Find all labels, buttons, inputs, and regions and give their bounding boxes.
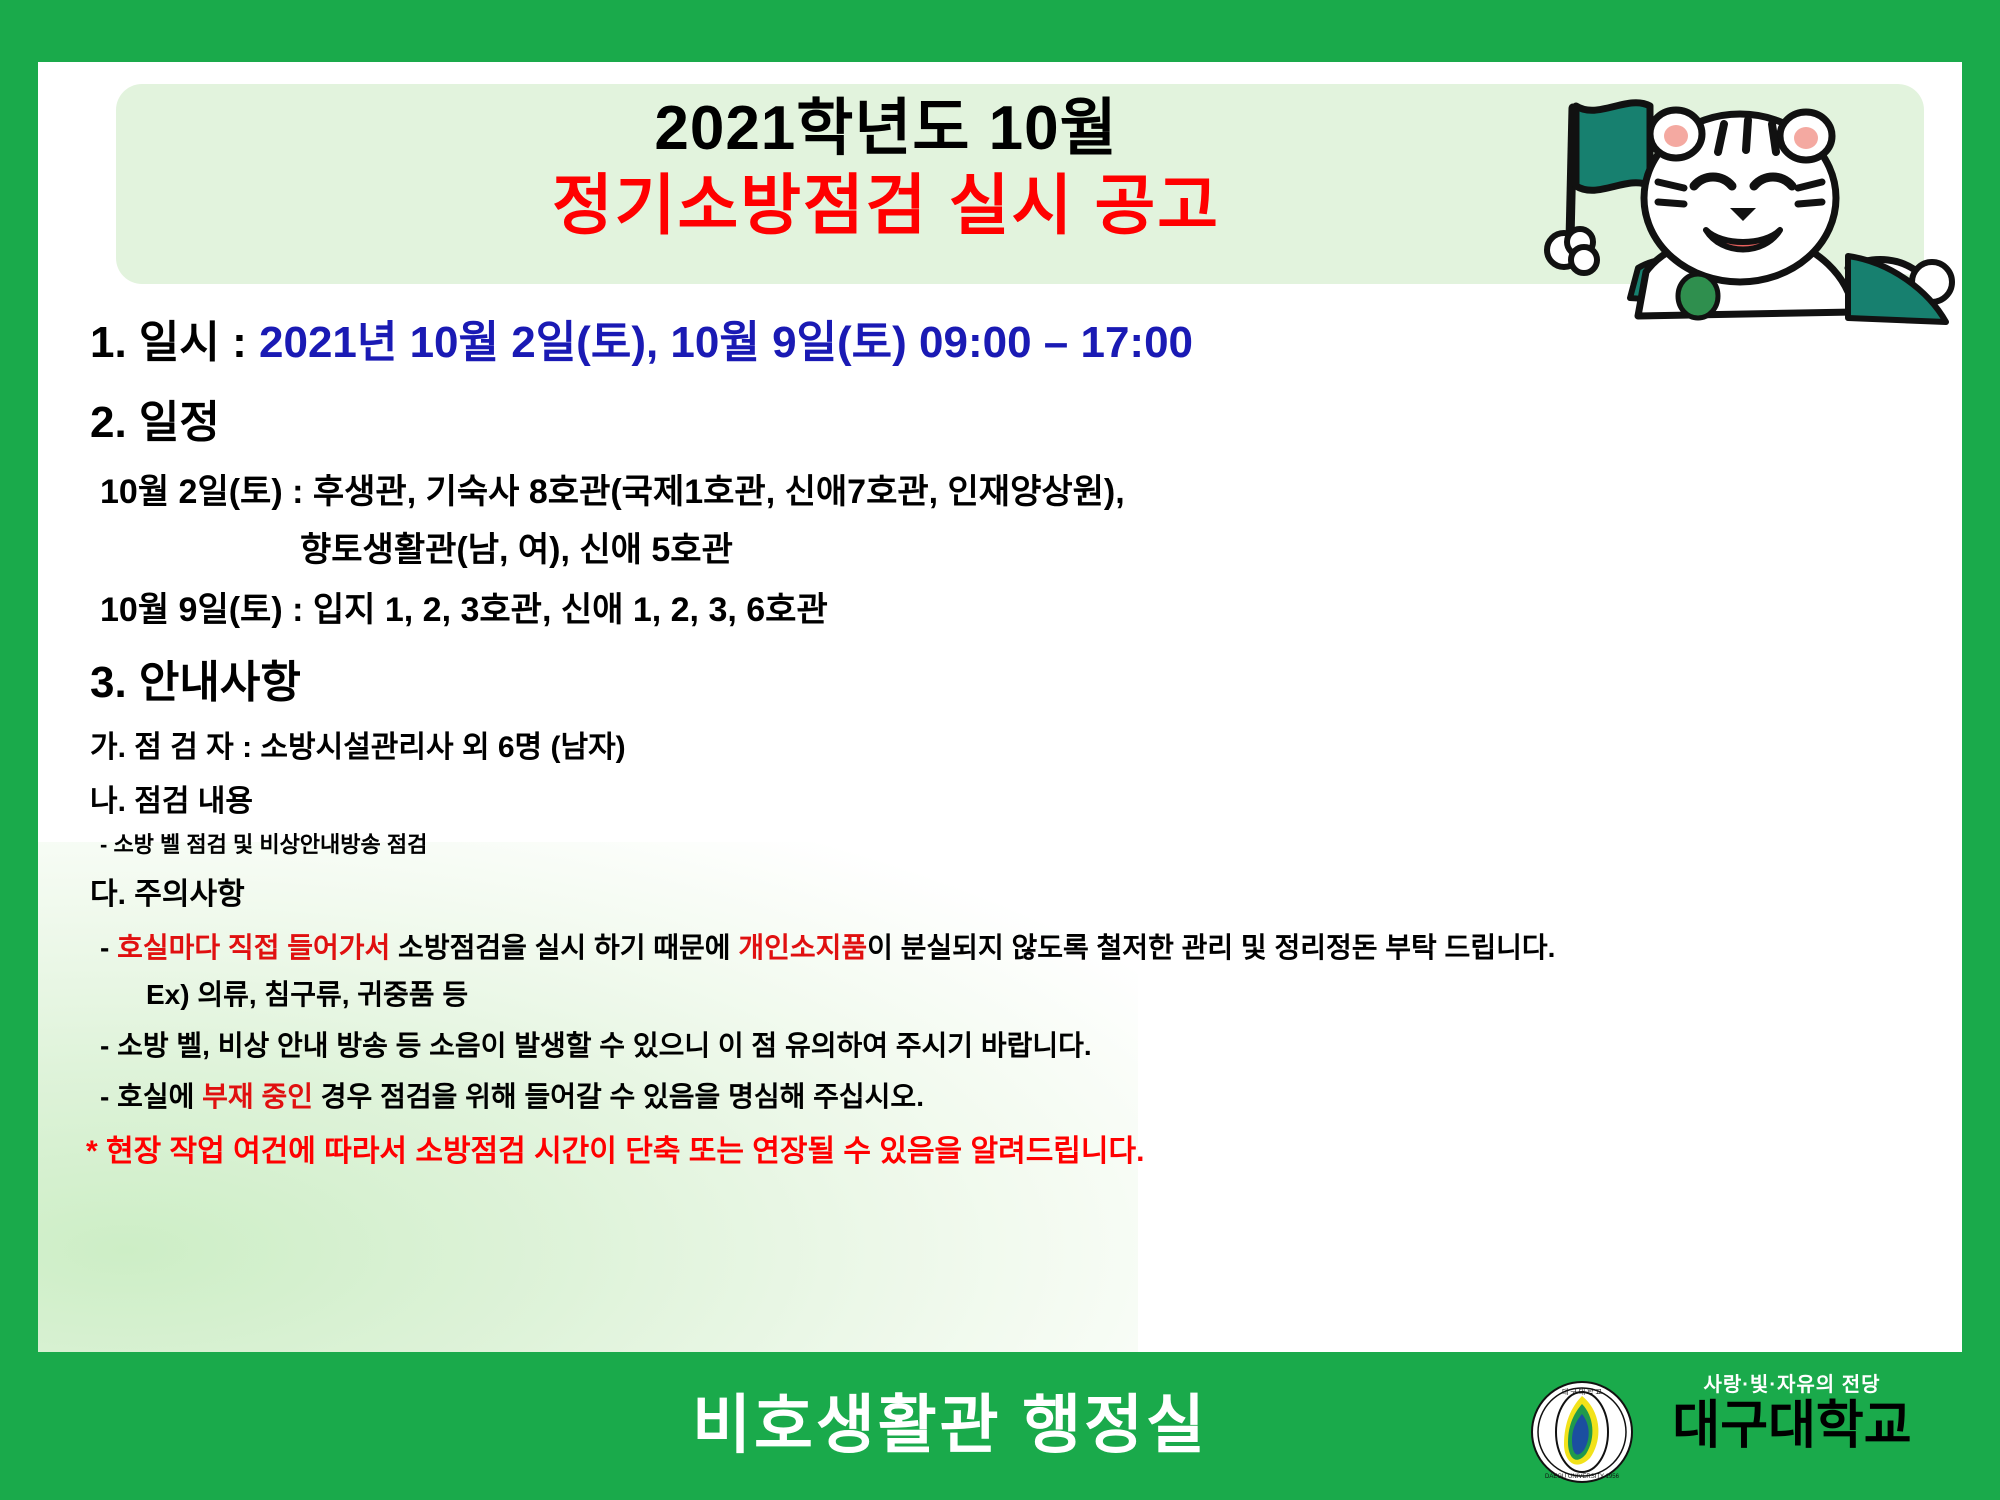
title-block: 2021학년도 10월 정기소방점검 실시 공고: [116, 92, 1656, 246]
schedule-line-2: 향토생활관(남, 여), 신애 5호관: [300, 522, 733, 571]
notice-heading: 3. 안내사항: [90, 646, 301, 710]
datetime-line: 1. 일시 : 2021년 10월 2일(토), 10월 9일(토) 09:00…: [90, 306, 1193, 370]
caution-3-highlight: 부재 중인: [202, 1081, 313, 1112]
caution-3-part-a: - 호실에: [100, 1081, 202, 1112]
content-label: 나. 점검 내용: [90, 776, 253, 820]
caution-3-part-b: 경우 점검을 위해 들어갈 수 있음을 명심해 주십시오.: [313, 1081, 924, 1112]
inspector-value: 소방시설관리사 외 6명 (남자): [260, 731, 625, 764]
poster-title-line2: 정기소방점검 실시 공고: [116, 165, 1656, 246]
university-logo-text: 사랑·빛·자유의 전당 대구대학교: [1642, 1362, 1942, 1454]
poster-title-line1: 2021학년도 10월: [116, 92, 1656, 165]
caution-1-part-a: -: [100, 932, 117, 963]
caution-line-1: - 호실마다 직접 들어가서 소방점검을 실시 하기 때문에 개인소지품이 분실…: [100, 926, 1555, 966]
caution-1-highlight-2: 개인소지품: [738, 932, 867, 963]
footnote-line: * 현장 작업 여건에 따라서 소방점검 시간이 단축 또는 연장될 수 있음을…: [86, 1126, 1144, 1170]
caution-1-part-b: 소방점검을 실시 하기 때문에: [390, 932, 738, 963]
caution-line-3: - 호실에 부재 중인 경우 점검을 위해 들어갈 수 있음을 명심해 주십시오…: [100, 1075, 924, 1115]
content-item: - 소방 벨 점검 및 비상안내방송 점검: [100, 827, 427, 859]
caution-1-example: Ex) 의류, 침구류, 귀중품 등: [146, 973, 468, 1013]
poster-sheet: 2021학년도 10월 정기소방점검 실시 공고: [38, 62, 1962, 1352]
inspector-label: 가. 점 검 자 :: [90, 731, 260, 764]
caution-label: 다. 주의사항: [90, 869, 245, 913]
datetime-label: 1. 일시 :: [90, 318, 247, 367]
university-name: 대구대학교: [1642, 1399, 1942, 1454]
university-emblem-icon: 대 구 대 학 교 DAEGU UNIVERSITY 1956: [1530, 1380, 1634, 1484]
caution-line-2: - 소방 벨, 비상 안내 방송 등 소음이 발생할 수 있으니 이 점 유의하…: [100, 1024, 1092, 1064]
caution-1-highlight-1: 호실마다 직접 들어가서: [117, 932, 390, 963]
svg-text:대 구 대 학 교: 대 구 대 학 교: [1562, 1387, 1603, 1396]
poster-footer: 비호생활관 행정실 대 구 대 학 교 DAEGU UNIVERSITY 195…: [0, 1352, 2000, 1500]
footer-office-name: 비호생활관 행정실: [600, 1374, 1300, 1466]
poster-root: 2021학년도 10월 정기소방점검 실시 공고: [0, 0, 2000, 1500]
university-logo: 대 구 대 학 교 DAEGU UNIVERSITY 1956 사랑·빛·자유의…: [1530, 1362, 1950, 1492]
schedule-heading: 2. 일정: [90, 386, 220, 450]
inspector-line: 가. 점 검 자 : 소방시설관리사 외 6명 (남자): [90, 722, 626, 766]
svg-text:DAEGU UNIVERSITY 1956: DAEGU UNIVERSITY 1956: [1545, 1474, 1620, 1480]
schedule-line-3: 10월 9일(토) : 입지 1, 2, 3호관, 신애 1, 2, 3, 6호…: [100, 582, 828, 631]
schedule-line-1: 10월 2일(토) : 후생관, 기숙사 8호관(국제1호관, 신애7호관, 인…: [100, 464, 1125, 513]
tiger-mascot-icon: [1518, 90, 1962, 325]
datetime-value: 2021년 10월 2일(토), 10월 9일(토) 09:00 – 17:00: [259, 318, 1193, 367]
caution-1-part-c: 이 분실되지 않도록 철저한 관리 및 정리정돈 부탁 드립니다.: [867, 932, 1555, 963]
university-slogan: 사랑·빛·자유의 전당: [1642, 1368, 1942, 1397]
